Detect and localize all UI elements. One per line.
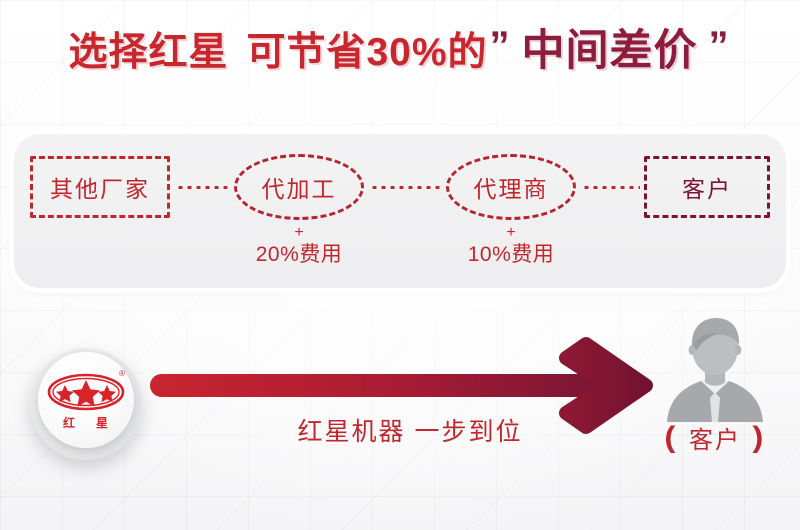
page-title: 选择红星可节省30%的”中间差价” [0, 30, 800, 73]
customer-label: 客户 [689, 420, 741, 455]
quote-close-icon: ” [707, 24, 732, 68]
hongxing-logo-badge: ® 红 星 [38, 352, 134, 448]
businessman-silhouette-icon [655, 312, 775, 422]
fee-plus-sign: + [431, 224, 591, 242]
quote-open-icon: ” [488, 24, 513, 68]
flow-arrow-caption: 红星机器 一步到位 [200, 412, 620, 448]
chain-node-agent: 代理商 [446, 154, 576, 220]
poster-canvas: 选择红星可节省30%的”中间差价” 其他厂家 代加工 代理商 客户 + 20%费… [0, 0, 800, 530]
fee-plus-sign: + [219, 224, 379, 242]
chain-node-label: 代加工 [262, 170, 337, 204]
chain-node-label: 代理商 [474, 170, 549, 204]
bracket-left-icon: ( [664, 423, 677, 453]
fee-amount: 20%费用 [219, 243, 379, 267]
chain-node-label: 客户 [682, 170, 732, 204]
chain-node-customer: 客户 [644, 156, 770, 218]
chain-connector-3 [582, 186, 640, 189]
customer-avatar [655, 312, 775, 422]
chain-connector-1 [176, 186, 230, 189]
fee-annotation-oem: + 20%费用 [219, 224, 379, 268]
middleman-chain-panel: 其他厂家 代加工 代理商 客户 + 20%费用 + 10%费用 [14, 134, 786, 288]
chain-connector-2 [370, 186, 442, 189]
title-lead: 选择红星 [68, 31, 228, 74]
bracket-right-icon: ) [752, 423, 765, 453]
logo-char-right: 星 [96, 416, 108, 430]
title-highlight: 中间差价 [522, 27, 698, 75]
logo-char-left: 红 [63, 415, 75, 430]
chain-node-oem: 代加工 [234, 154, 364, 220]
title-savings: 可节省30%的 [246, 31, 487, 74]
registered-mark: ® [119, 369, 125, 378]
fee-amount: 10%费用 [431, 243, 591, 267]
customer-label-group: ( 客户 ) [640, 420, 790, 455]
fee-annotation-agent: + 10%费用 [431, 224, 591, 268]
chain-node-label: 其他厂家 [50, 170, 150, 204]
chain-node-other-factory: 其他厂家 [30, 156, 170, 218]
hongxing-star-logo-icon: ® 红 星 [44, 367, 128, 433]
